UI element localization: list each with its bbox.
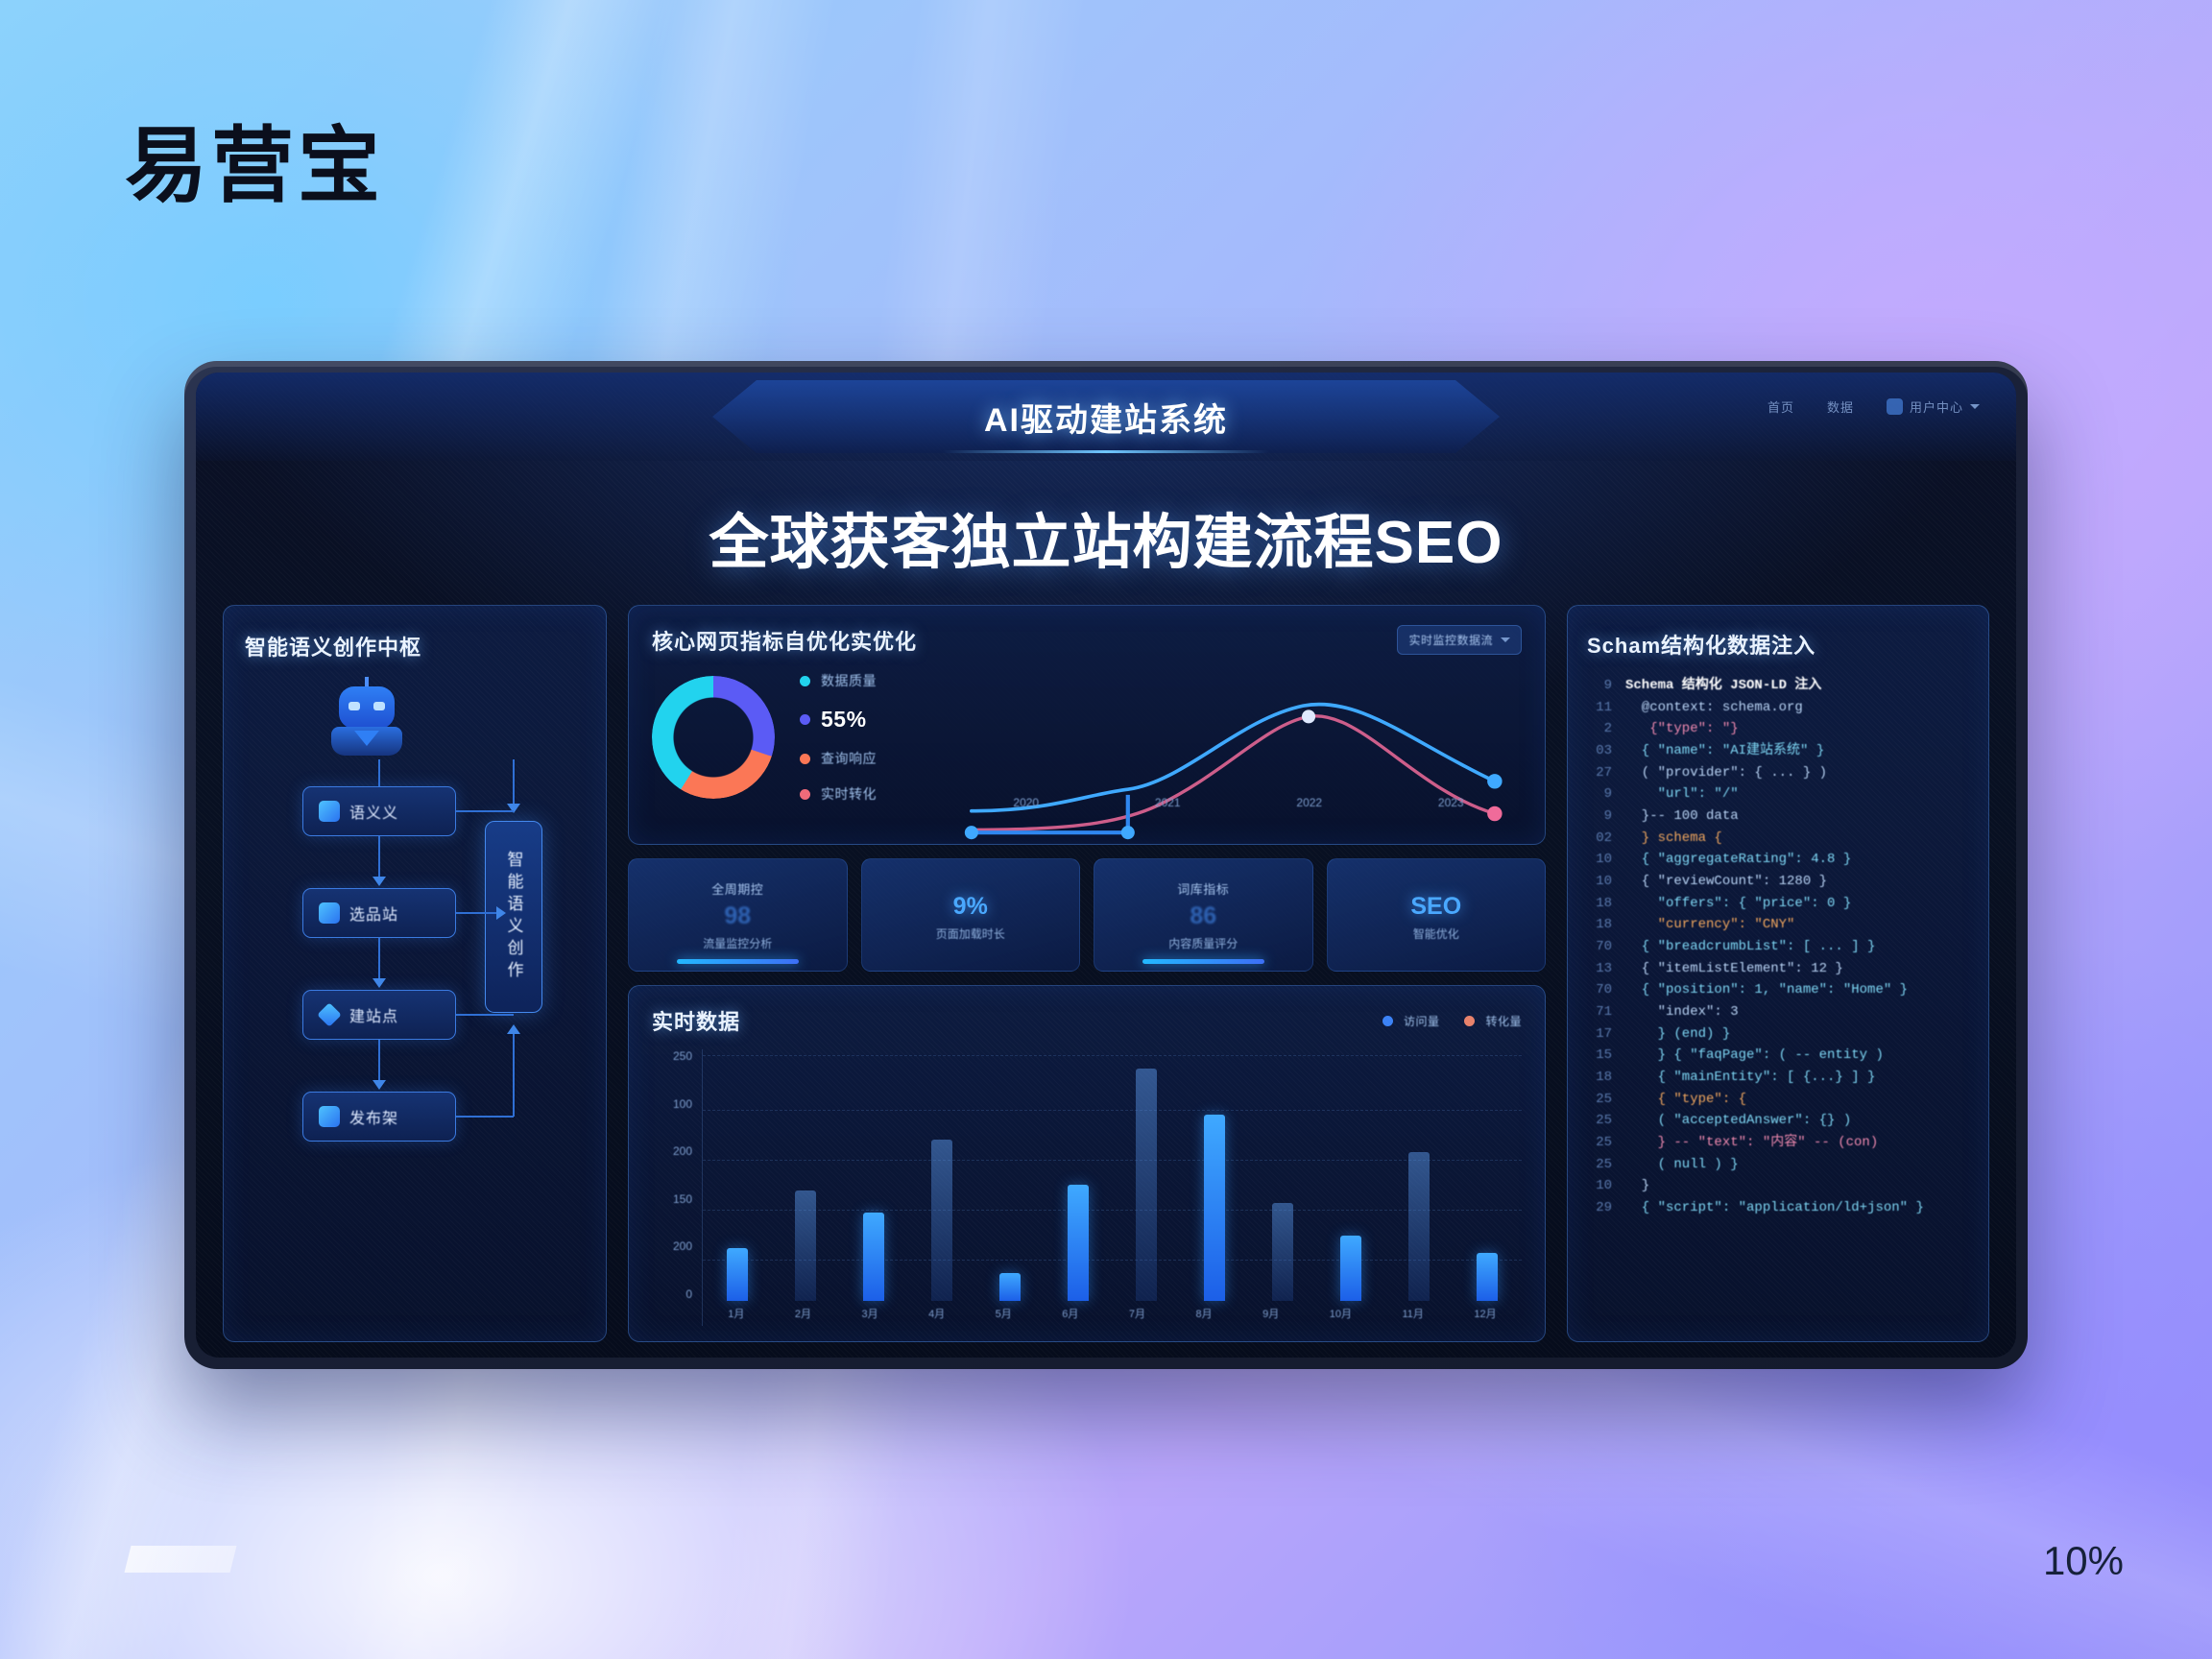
- legend-item[interactable]: 查询响应: [800, 749, 877, 768]
- legend-label: 查询响应: [821, 749, 877, 768]
- flow-arrow-down-icon: [373, 877, 386, 886]
- flow-node-4[interactable]: 发布架: [302, 1092, 456, 1142]
- code-line: 18 "offers": { "price": 0 }: [1587, 893, 1969, 915]
- bar-column[interactable]: [1408, 1152, 1430, 1301]
- code-line: 2 {"type": "}: [1587, 718, 1969, 740]
- flow-line: [456, 912, 498, 914]
- metrics-panel-title: 核心网页指标自优化实优化: [652, 625, 917, 656]
- x-tick: 9月: [1262, 1306, 1279, 1321]
- layers-icon: [319, 902, 340, 924]
- brand-logo: 易营宝: [125, 125, 384, 207]
- donut-chart-block: 数据质量 55% 查询响应: [652, 671, 940, 804]
- kpi-progress-bar: [677, 959, 799, 964]
- kpi-subtitle: 流量监控分析: [703, 935, 772, 951]
- legend-label: 实时转化: [821, 784, 877, 804]
- code-line: 70 { "breadcrumbList": [ ... ] }: [1587, 936, 1969, 958]
- workflow-diagram: 语义义 选品站 建站点 发布架: [245, 679, 585, 1316]
- legend-label: 访问量: [1404, 1013, 1440, 1029]
- code-line-text: ( "provider": { ... } ): [1625, 762, 1827, 784]
- page-title: 全球获客独立站构建流程SEO: [196, 493, 2016, 580]
- code-line-number: 25: [1587, 1110, 1612, 1132]
- code-panel-title: Scham结构化数据注入: [1587, 629, 1969, 660]
- code-line: 02 } schema {: [1587, 828, 1969, 850]
- flow-line: [513, 759, 515, 805]
- code-line-number: 10: [1587, 1175, 1612, 1197]
- core-metrics-panel: 核心网页指标自优化实优化 实时监控数据流 数据质量: [628, 605, 1546, 845]
- flow-line: [378, 938, 380, 980]
- x-tick: 3月: [861, 1306, 878, 1321]
- grid-icon: [319, 1106, 340, 1127]
- slide-progress: 10%: [2043, 1538, 2124, 1584]
- code-line-text: @context: schema.org: [1625, 697, 1803, 719]
- watermark-bar: [125, 1546, 237, 1573]
- flow-arrow-down-icon: [373, 1080, 386, 1090]
- code-line-number: 02: [1587, 828, 1612, 850]
- code-line-text: { "type": {: [1625, 1089, 1746, 1111]
- trend-line-chart: 2020 2021 2022 2023: [955, 665, 1522, 809]
- dashboard-topbar: AI驱动建站系统 首页 数据 用户中心: [196, 373, 2016, 461]
- code-line-number: 10: [1587, 849, 1612, 871]
- realtime-panel-title: 实时数据: [652, 1005, 740, 1036]
- trend-x-axis: 2020 2021 2022 2023: [955, 796, 1522, 809]
- y-tick: 0: [685, 1287, 692, 1301]
- legend-label: 转化量: [1485, 1013, 1522, 1029]
- code-line-number: 29: [1587, 1197, 1612, 1219]
- code-line-number: 10: [1587, 871, 1612, 893]
- x-tick: 10月: [1330, 1306, 1352, 1321]
- kpi-value: 9%: [953, 893, 988, 921]
- code-line-text: "url": "/": [1625, 783, 1739, 805]
- code-line: 10 { "aggregateRating": 4.8 }: [1587, 849, 1969, 871]
- realtime-data-panel: 实时数据 访问量 转化量: [628, 985, 1546, 1342]
- flow-node-4-label: 发布架: [349, 1105, 398, 1128]
- bar-column[interactable]: [1068, 1185, 1089, 1301]
- kpi-value: SEO: [1410, 893, 1461, 921]
- bar-column[interactable]: [999, 1273, 1021, 1301]
- left-panel-title: 智能语义创作中枢: [245, 631, 585, 661]
- x-tick: 2021: [1155, 796, 1181, 809]
- ai-robot-icon: [325, 681, 408, 759]
- kpi-card-2[interactable]: 9% 页面加载时长: [861, 858, 1081, 972]
- code-line-text: { "itemListElement": 12 }: [1625, 958, 1843, 980]
- flow-node-3[interactable]: 建站点: [302, 990, 456, 1040]
- x-tick: 11月: [1402, 1306, 1423, 1321]
- code-line-number: 70: [1587, 979, 1612, 1001]
- metrics-header: 核心网页指标自优化实优化 实时监控数据流: [652, 625, 1522, 656]
- nav-item-home[interactable]: 首页: [1767, 397, 1794, 416]
- code-line: 27 ( "provider": { ... } ): [1587, 762, 1969, 784]
- kpi-subtitle: 页面加载时长: [936, 926, 1005, 942]
- legend-item[interactable]: 访问量: [1382, 1013, 1440, 1029]
- code-line-number: 9: [1587, 805, 1612, 828]
- flow-line: [378, 1040, 380, 1082]
- code-line-text: {"type": "}: [1625, 718, 1739, 740]
- legend-item[interactable]: 55%: [800, 707, 877, 733]
- code-line-number: 27: [1587, 762, 1612, 784]
- dashboard-body: 智能语义创作中枢 语义义 选品站: [196, 605, 2016, 1358]
- flow-line: [456, 810, 514, 812]
- code-line-text: }-- 100 data: [1625, 805, 1739, 828]
- banner-title: AI驱动建站系统: [984, 394, 1228, 441]
- realtime-legend: 访问量 转化量: [1382, 1013, 1522, 1029]
- kpi-subtitle: 内容质量评分: [1168, 935, 1238, 951]
- device-frame: AI驱动建站系统 首页 数据 用户中心 全球获客独立站构建流程SEO 智能语义创…: [184, 361, 2028, 1369]
- code-line-number: 71: [1587, 1001, 1612, 1023]
- diamond-icon: [317, 1002, 342, 1027]
- cube-icon: [319, 801, 340, 822]
- flow-node-1-label: 语义义: [349, 800, 398, 823]
- kpi-card-1[interactable]: 全周期控 98 流量监控分析: [628, 858, 848, 972]
- bar-column[interactable]: [863, 1213, 884, 1301]
- bar-chart-plot: 1月2月3月4月5月6月7月8月9月10月11月12月: [702, 1049, 1522, 1326]
- chevron-down-icon: [1970, 404, 1980, 409]
- donut-chart: [652, 676, 775, 799]
- donut-legend: 数据质量 55% 查询响应: [800, 671, 877, 804]
- code-line: 10 { "reviewCount": 1280 }: [1587, 871, 1969, 893]
- code-line: 71 "index": 3: [1587, 1001, 1969, 1023]
- code-line-text: "index": 3: [1625, 1001, 1739, 1023]
- bar-series: [703, 1049, 1522, 1301]
- dashboard-screen: AI驱动建站系统 首页 数据 用户中心 全球获客独立站构建流程SEO 智能语义创…: [196, 373, 2016, 1358]
- topbar-banner: AI驱动建站系统: [712, 380, 1500, 453]
- nav-item-user[interactable]: 用户中心: [1887, 397, 1980, 416]
- code-line-number: 13: [1587, 958, 1612, 980]
- y-tick: 250: [673, 1049, 692, 1063]
- code-line: 9 "url": "/": [1587, 783, 1969, 805]
- code-line-text: } { "faqPage": ( -- entity ): [1625, 1045, 1884, 1067]
- code-line-number: 25: [1587, 1154, 1612, 1176]
- flow-node-2[interactable]: 选品站: [302, 888, 456, 938]
- top-navigation: 首页 数据 用户中心: [1767, 397, 1980, 416]
- x-tick: 8月: [1196, 1306, 1213, 1321]
- code-line: 25 ( null ) }: [1587, 1154, 1969, 1176]
- bar-column[interactable]: [931, 1140, 952, 1301]
- hero-section: 全球获客独立站构建流程SEO: [196, 461, 2016, 605]
- code-line-text: } (end) }: [1625, 1023, 1730, 1046]
- code-line-text: } schema {: [1625, 828, 1722, 850]
- semantic-hub-node[interactable]: 智能语义创作: [485, 821, 542, 1013]
- metrics-range-dropdown[interactable]: 实时监控数据流: [1397, 625, 1522, 655]
- kpi-subtitle: 智能优化: [1413, 926, 1459, 942]
- flow-node-2-label: 选品站: [349, 902, 398, 925]
- x-tick: 5月: [996, 1306, 1012, 1321]
- code-line: 25 ( "acceptedAnswer": {} ): [1587, 1110, 1969, 1132]
- trend-svg: [955, 665, 1522, 868]
- flow-line: [378, 759, 380, 786]
- legend-item[interactable]: 实时转化: [800, 784, 877, 804]
- code-line: 9Schema 结构化 JSON-LD 注入: [1587, 675, 1969, 697]
- nav-item-data[interactable]: 数据: [1827, 397, 1854, 416]
- code-line: 03 { "name": "AI建站系统" }: [1587, 740, 1969, 762]
- code-line-text: "currency": "CNY": [1625, 914, 1794, 936]
- code-line: 18 "currency": "CNY": [1587, 914, 1969, 936]
- code-line-text: { "breadcrumbList": [ ... ] }: [1625, 936, 1875, 958]
- code-line: 25 } -- "text": "内容" -- (con): [1587, 1132, 1969, 1154]
- x-tick: 2020: [1013, 796, 1039, 809]
- x-tick: 4月: [928, 1306, 945, 1321]
- x-tick: 2022: [1296, 796, 1322, 809]
- kpi-card-row: 全周期控 98 流量监控分析 9% 页面加载时长 词库指标 86 内容质量评分: [628, 858, 1546, 972]
- flow-arrow-up-icon: [507, 1024, 520, 1034]
- code-line-text: { "name": "AI建站系统" }: [1625, 740, 1824, 762]
- code-line: 15 } { "faqPage": ( -- entity ): [1587, 1045, 1969, 1067]
- code-line: 13 { "itemListElement": 12 }: [1587, 958, 1969, 980]
- kpi-value: 98: [724, 902, 751, 930]
- chevron-down-icon: [1501, 637, 1510, 642]
- bar-chart-x-axis: 1月2月3月4月5月6月7月8月9月10月11月12月: [703, 1301, 1522, 1326]
- code-line-number: 03: [1587, 740, 1612, 762]
- code-line-text: { "position": 1, "name": "Home" }: [1625, 979, 1908, 1001]
- code-line-number: 25: [1587, 1132, 1612, 1154]
- flow-line: [513, 1034, 515, 1117]
- flow-node-3-label: 建站点: [349, 1003, 398, 1026]
- nav-user-label: 用户中心: [1910, 397, 1963, 416]
- legend-color-dot: [1464, 1016, 1475, 1026]
- flow-line: [456, 1116, 514, 1118]
- bar-chart-y-axis: 250 100 200 150 200 0: [652, 1049, 702, 1326]
- bar-column[interactable]: [1340, 1236, 1361, 1301]
- legend-label: 数据质量: [821, 671, 877, 690]
- code-line-text: }: [1625, 1175, 1649, 1197]
- code-line-number: 18: [1587, 1067, 1612, 1089]
- metrics-content: 数据质量 55% 查询响应: [652, 665, 1522, 809]
- semantic-hub-panel: 智能语义创作中枢 语义义 选品站: [223, 605, 607, 1342]
- code-line-text: { "script": "application/ld+json" }: [1625, 1197, 1924, 1219]
- code-line-text: Schema 结构化 JSON-LD 注入: [1625, 675, 1821, 697]
- bar-column[interactable]: [727, 1248, 748, 1301]
- flow-arrow-down-icon: [373, 978, 386, 988]
- bar-column[interactable]: [1136, 1069, 1157, 1301]
- y-tick: 150: [673, 1192, 692, 1206]
- flow-line: [378, 836, 380, 878]
- banner-underline: [943, 450, 1269, 453]
- x-tick: 6月: [1062, 1306, 1078, 1321]
- flow-node-1[interactable]: 语义义: [302, 786, 456, 836]
- y-tick: 200: [673, 1239, 692, 1253]
- y-tick: 100: [673, 1097, 692, 1111]
- realtime-header: 实时数据 访问量 转化量: [652, 1005, 1522, 1036]
- legend-color-dot: [800, 789, 810, 800]
- y-tick: 200: [673, 1144, 692, 1158]
- code-line-number: 70: [1587, 936, 1612, 958]
- legend-color-dot: [800, 754, 810, 764]
- legend-color-dot: [1382, 1016, 1393, 1026]
- legend-item[interactable]: 数据质量: [800, 671, 877, 690]
- code-line-text: ( null ) }: [1625, 1154, 1739, 1176]
- avatar: [1887, 398, 1903, 415]
- code-line-number: 17: [1587, 1023, 1612, 1046]
- code-line: 17 } (end) }: [1587, 1023, 1969, 1046]
- kpi-title: 词库指标: [1177, 879, 1229, 898]
- code-line-text: ( "acceptedAnswer": {} ): [1625, 1110, 1851, 1132]
- legend-item[interactable]: 转化量: [1464, 1013, 1522, 1029]
- x-tick: 2023: [1438, 796, 1464, 809]
- x-tick: 12月: [1474, 1306, 1496, 1321]
- kpi-card-4[interactable]: SEO 智能优化: [1327, 858, 1547, 972]
- code-line-text: { "mainEntity": [ {...} ] }: [1625, 1067, 1875, 1089]
- flow-line: [456, 1014, 514, 1016]
- code-line-number: 9: [1587, 675, 1612, 697]
- code-line: 70 { "position": 1, "name": "Home" }: [1587, 979, 1969, 1001]
- code-line-text: } -- "text": "内容" -- (con): [1625, 1132, 1878, 1154]
- code-editor[interactable]: 9Schema 结构化 JSON-LD 注入11 @context: schem…: [1587, 675, 1969, 1318]
- bar-column[interactable]: [1204, 1115, 1225, 1301]
- kpi-title: 全周期控: [711, 879, 763, 898]
- x-tick: 1月: [728, 1306, 744, 1321]
- code-line: 29 { "script": "application/ld+json" }: [1587, 1197, 1969, 1219]
- code-line: 25 { "type": {: [1587, 1089, 1969, 1111]
- code-line-text: "offers": { "price": 0 }: [1625, 893, 1851, 915]
- code-line-number: 25: [1587, 1089, 1612, 1111]
- center-column: 核心网页指标自优化实优化 实时监控数据流 数据质量: [628, 605, 1546, 1342]
- dropdown-label: 实时监控数据流: [1408, 632, 1493, 648]
- code-line-number: 15: [1587, 1045, 1612, 1067]
- legend-color-dot: [800, 676, 810, 686]
- bar-column[interactable]: [1477, 1253, 1498, 1301]
- code-line-number: 18: [1587, 893, 1612, 915]
- code-line-number: 2: [1587, 718, 1612, 740]
- bar-column[interactable]: [795, 1190, 816, 1301]
- schema-code-panel: Scham结构化数据注入 9Schema 结构化 JSON-LD 注入11 @c…: [1567, 605, 1989, 1342]
- x-tick: 2月: [795, 1306, 811, 1321]
- kpi-progress-bar: [1142, 959, 1264, 964]
- code-line: 18 { "mainEntity": [ {...} ] }: [1587, 1067, 1969, 1089]
- code-line: 9 }-- 100 data: [1587, 805, 1969, 828]
- bar-column[interactable]: [1272, 1203, 1293, 1301]
- flow-arrow-right-icon: [496, 906, 506, 920]
- kpi-card-3[interactable]: 词库指标 86 内容质量评分: [1094, 858, 1313, 972]
- code-line-number: 11: [1587, 697, 1612, 719]
- code-line-text: { "reviewCount": 1280 }: [1625, 871, 1827, 893]
- code-line-number: 18: [1587, 914, 1612, 936]
- x-tick: 7月: [1129, 1306, 1145, 1321]
- bar-chart: 250 100 200 150 200 0: [652, 1049, 1522, 1326]
- code-line-text: { "aggregateRating": 4.8 }: [1625, 849, 1851, 871]
- legend-value: 55%: [821, 707, 867, 733]
- code-line: 10 }: [1587, 1175, 1969, 1197]
- kpi-value: 86: [1190, 902, 1216, 930]
- code-line-number: 9: [1587, 783, 1612, 805]
- code-line: 11 @context: schema.org: [1587, 697, 1969, 719]
- legend-color-dot: [800, 714, 810, 725]
